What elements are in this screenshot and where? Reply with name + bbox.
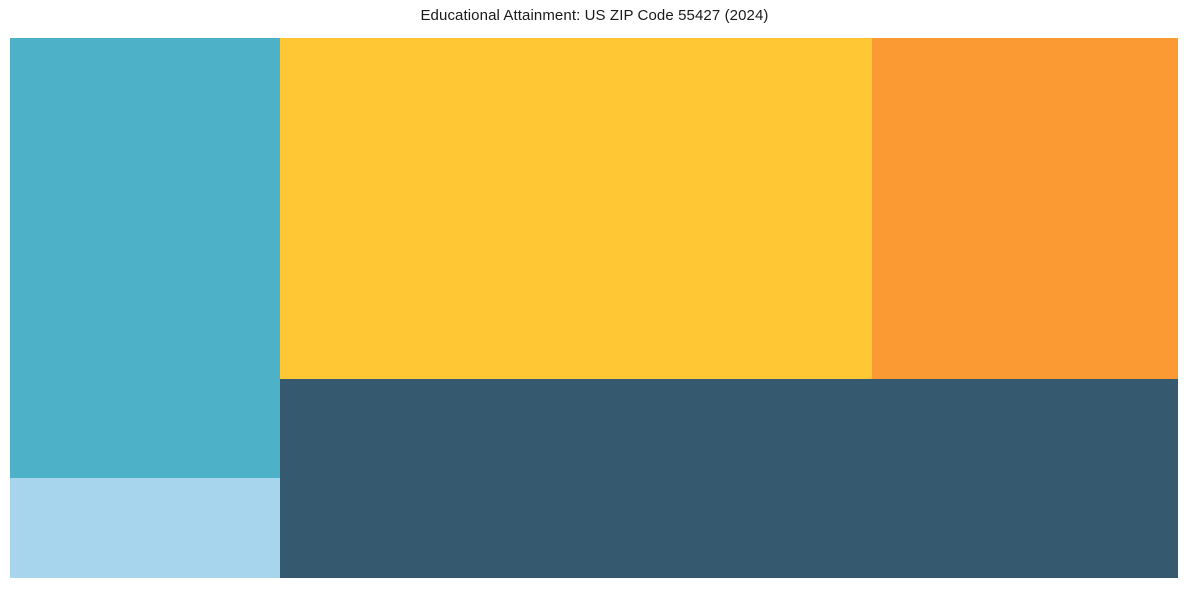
mosaic-tile-5[interactable] <box>280 379 1178 578</box>
mosaic-tile-2[interactable] <box>10 478 280 578</box>
mosaic-tile-4[interactable] <box>872 38 1178 379</box>
mosaic-tile-3[interactable] <box>280 38 872 379</box>
mosaic-plot-area <box>10 38 1178 578</box>
chart-title: Educational Attainment: US ZIP Code 5542… <box>0 7 1189 25</box>
mosaic-tile-1[interactable] <box>10 38 280 478</box>
mosaic-column-1 <box>10 38 280 578</box>
chart-figure: Educational Attainment: US ZIP Code 5542… <box>0 0 1189 590</box>
